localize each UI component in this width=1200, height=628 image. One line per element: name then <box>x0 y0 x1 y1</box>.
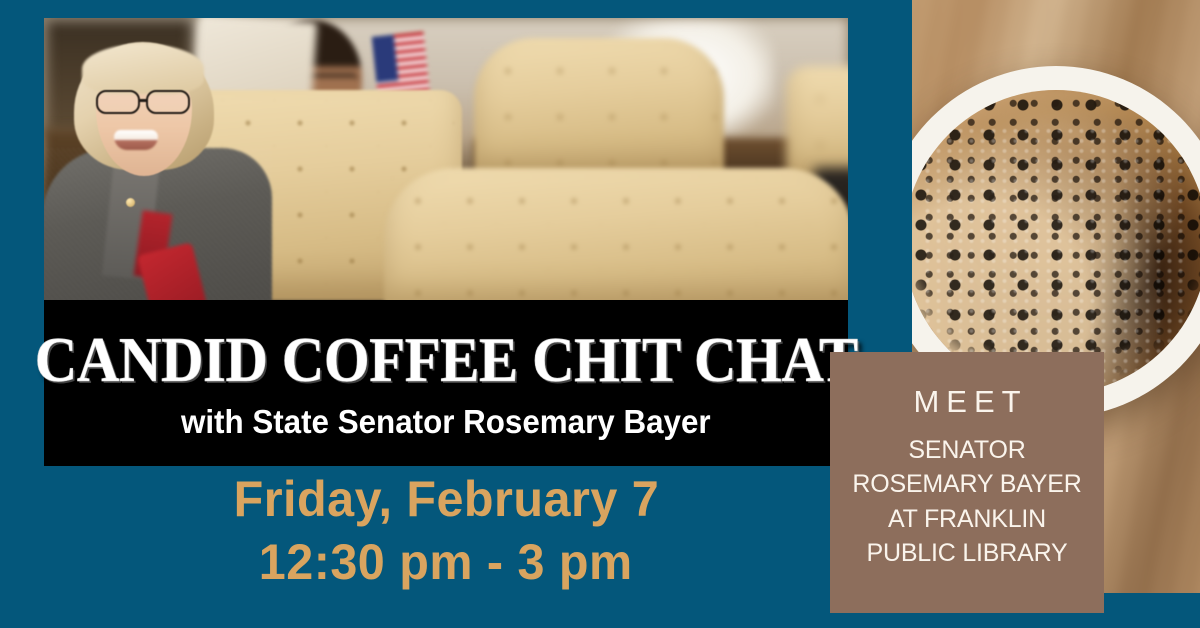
tufted-leather-chair-front <box>384 168 848 300</box>
event-subheadline: with State Senator Rosemary Bayer <box>181 403 711 441</box>
senator-portrait <box>52 30 302 300</box>
meet-line-venue-2: PUBLIC LIBRARY <box>867 536 1068 570</box>
meet-line-senator: SENATOR <box>908 433 1025 467</box>
event-flyer: CANDID COFFEE CHIT CHAT with State Senat… <box>0 0 1200 628</box>
coffee-foam-speckle <box>922 126 1183 381</box>
senator-chamber-photo <box>44 18 848 300</box>
meet-line-name: ROSEMARY BAYER <box>852 467 1081 501</box>
meet-label: MEET <box>906 384 1027 420</box>
event-datetime: Friday, February 7 12:30 pm - 3 pm <box>44 470 848 592</box>
event-headline: CANDID COFFEE CHIT CHAT <box>34 329 857 392</box>
meet-info-box: MEET SENATOR ROSEMARY BAYER AT FRANKLIN … <box>830 352 1104 613</box>
eyeglasses-icon <box>96 90 200 116</box>
event-time: 12:30 pm - 3 pm <box>259 533 633 592</box>
event-date: Friday, February 7 <box>233 470 659 529</box>
title-band: CANDID COFFEE CHIT CHAT with State Senat… <box>44 300 848 466</box>
coffee-surface <box>912 90 1200 394</box>
meet-line-venue-1: AT FRANKLIN <box>888 502 1046 536</box>
background-chair-middle <box>474 38 724 178</box>
